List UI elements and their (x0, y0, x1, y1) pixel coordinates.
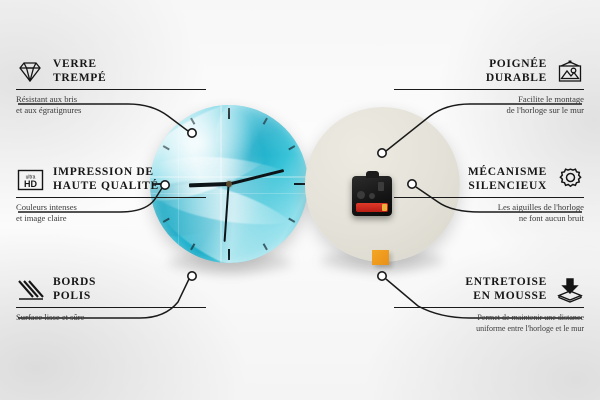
callout-subtitle: Surface lisse et sûre (16, 312, 206, 323)
callout-bords-polis: BORDSPOLIS Surface lisse et sûre (16, 276, 206, 323)
mechanism-detail (378, 182, 384, 191)
callout-divider (394, 197, 584, 198)
ultra-hd-icon: ultra HD (16, 167, 44, 193)
callout-divider (16, 307, 206, 308)
callout-verre-trempe: VERRETREMPÉ Résistant aux briset aux égr… (16, 58, 206, 116)
foam-spacer (372, 250, 389, 265)
callout-subtitle: Les aiguilles de l'horlogene font aucun … (394, 202, 584, 224)
callout-title: ENTRETOISEEN MOUSSE (465, 276, 547, 303)
mechanism-detail (369, 193, 375, 199)
callout-subtitle: Résistant aux briset aux égratignures (16, 94, 206, 116)
callout-header: ultra HD IMPRESSION DEHAUTE QUALITÉ (16, 166, 206, 193)
callout-title: POIGNÉEDURABLE (486, 58, 547, 85)
battery-terminal (382, 204, 387, 211)
callout-divider (394, 307, 584, 308)
callout-header: ENTRETOISEEN MOUSSE (394, 276, 584, 303)
callout-entretoise-en-mousse: ENTRETOISEEN MOUSSE Permet de maintenir … (394, 276, 584, 334)
callout-poignee-durable: POIGNÉEDURABLE Facilite le montagede l'h… (394, 58, 584, 116)
picture-hanger-icon (556, 59, 584, 85)
callout-subtitle: Permet de maintenir une distanceuniforme… (394, 312, 584, 334)
callout-subtitle: Couleurs intenseset image claire (16, 202, 206, 224)
connector-node (378, 272, 386, 280)
callout-divider (16, 197, 206, 198)
callout-header: MÉCANISMESILENCIEUX (394, 166, 584, 193)
callout-header: POIGNÉEDURABLE (394, 58, 584, 85)
callout-impression-haute-qualite: ultra HD IMPRESSION DEHAUTE QUALITÉ Coul… (16, 166, 206, 224)
callout-title: IMPRESSION DEHAUTE QUALITÉ (53, 166, 159, 193)
callout-title: MÉCANISMESILENCIEUX (468, 166, 547, 193)
diamond-icon (16, 59, 44, 85)
callout-header: VERRETREMPÉ (16, 58, 206, 85)
clock-mechanism (352, 176, 392, 216)
foam-spacer-icon (556, 277, 584, 303)
callout-divider (16, 89, 206, 90)
infographic-canvas: VERRETREMPÉ Résistant aux briset aux égr… (0, 0, 600, 400)
callout-divider (394, 89, 584, 90)
callout-title: VERRETREMPÉ (53, 58, 106, 85)
polished-edges-icon (16, 277, 44, 303)
callout-title: BORDSPOLIS (53, 276, 96, 303)
battery (356, 203, 388, 212)
callout-subtitle: Facilite le montagede l'horloge sur le m… (394, 94, 584, 116)
callout-mecanisme-silencieux: MÉCANISMESILENCIEUX Les aiguilles de l'h… (394, 166, 584, 224)
callout-header: BORDSPOLIS (16, 276, 206, 303)
gear-icon (556, 167, 584, 193)
svg-text:HD: HD (24, 179, 37, 189)
mechanism-hanger-tab (366, 171, 379, 178)
mechanism-detail (357, 191, 365, 199)
